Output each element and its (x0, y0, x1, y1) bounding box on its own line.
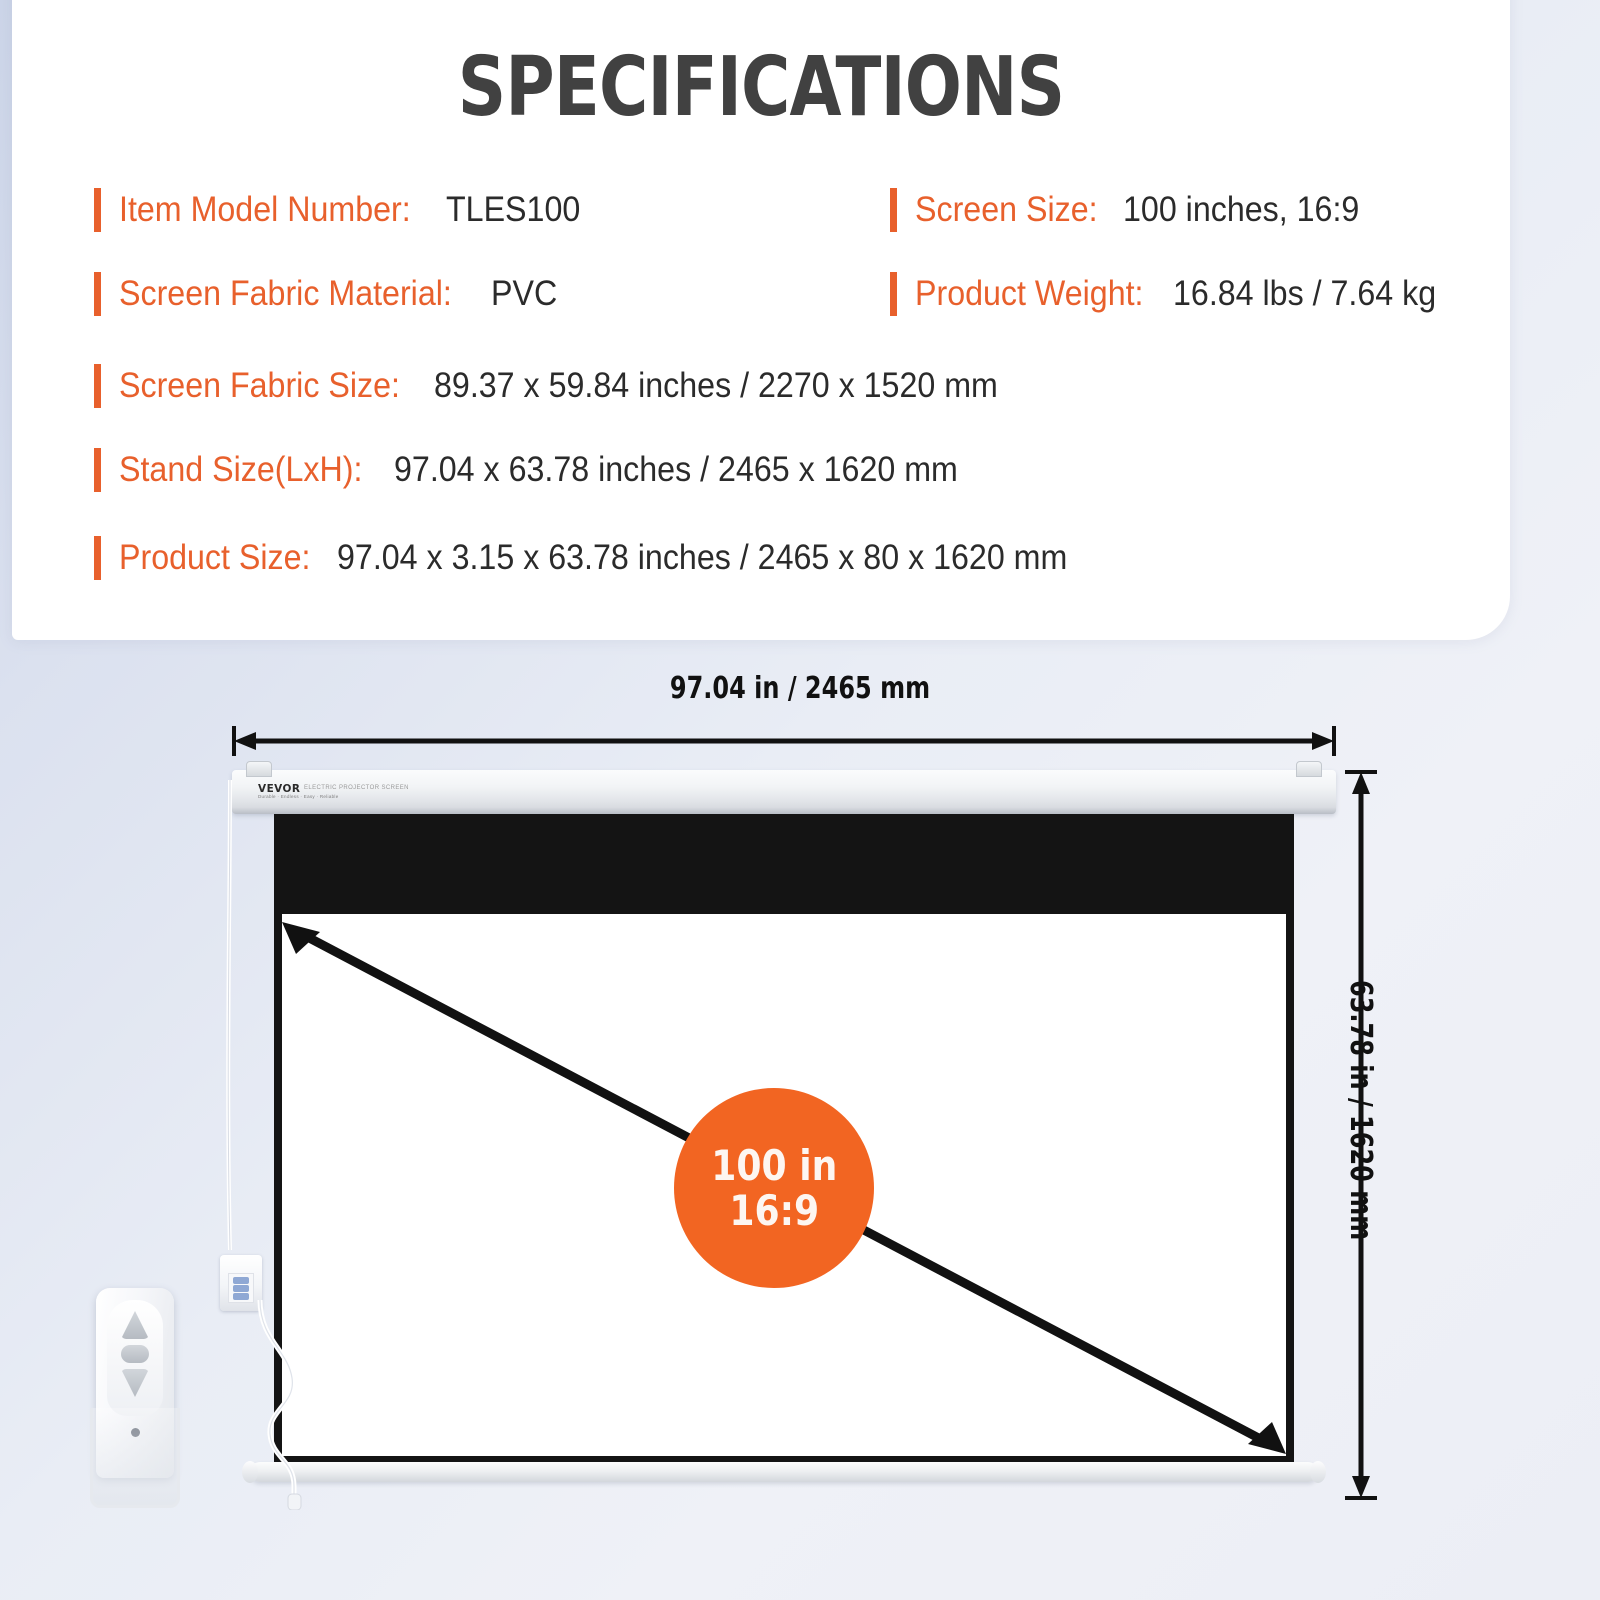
width-dimension-arrow-icon (232, 726, 1336, 756)
mounting-bracket-right-icon (1296, 761, 1322, 777)
spec-label: Product Weight: (915, 274, 1144, 314)
housing-model-text: ELECTRIC PROJECTOR SCREEN (304, 785, 409, 791)
remote-down-button-icon[interactable] (121, 1369, 149, 1397)
spec-value: 100 inches, 16:9 (1123, 190, 1359, 230)
accent-bar (94, 272, 101, 316)
spec-value: 97.04 x 63.78 inches / 2465 x 1620 mm (394, 450, 958, 490)
badge-ratio-text: 16:9 (729, 1188, 819, 1233)
remote-wall-holder (90, 1408, 180, 1508)
wall-switch-cable (248, 1300, 312, 1510)
screen-bottom-weight-bar (250, 1462, 1318, 1482)
switch-key-stop[interactable] (233, 1285, 249, 1292)
height-dimension-label: 63.78 in / 1620 mm (1343, 980, 1378, 1236)
spec-label: Screen Fabric Material: (119, 274, 452, 314)
mounting-bracket-left-icon (246, 761, 272, 777)
spec-value: TLES100 (446, 190, 580, 230)
spec-label: Screen Size: (915, 190, 1098, 230)
accent-bar (890, 272, 897, 316)
remote-up-button-icon[interactable] (121, 1311, 149, 1339)
spec-row: Screen Fabric Size: 89.37 x 59.84 inches… (94, 364, 1047, 408)
accent-bar (94, 448, 101, 492)
spec-label: Screen Fabric Size: (119, 366, 400, 406)
specifications-card: SPECIFICATIONS Item Model Number: TLES10… (12, 0, 1510, 640)
product-spec-page: SPECIFICATIONS Item Model Number: TLES10… (0, 0, 1600, 1600)
bottom-bar-end-cap-right (1310, 1461, 1326, 1483)
remote-stop-button-icon[interactable] (121, 1345, 149, 1363)
screen-size-badge: 100 in 16:9 (674, 1088, 874, 1288)
accent-bar (94, 188, 101, 232)
spec-row: Stand Size(LxH): 97.04 x 63.78 inches / … (94, 448, 1006, 492)
spec-row: Product Weight: 16.84 lbs / 7.64 kg (890, 272, 1459, 316)
badge-size-text: 100 in (711, 1143, 837, 1188)
spec-label: Stand Size(LxH): (119, 450, 362, 490)
accent-bar (94, 364, 101, 408)
spec-value: 97.04 x 3.15 x 63.78 inches / 2465 x 80 … (337, 538, 1067, 578)
switch-key-down[interactable] (233, 1293, 249, 1300)
accent-bar (890, 188, 897, 232)
remote-control[interactable] (96, 1288, 174, 1508)
width-dimension-label: 97.04 in / 2465 mm (160, 671, 1440, 706)
wall-switch-keypad[interactable] (228, 1273, 254, 1303)
spec-row: Product Size: 97.04 x 3.15 x 63.78 inche… (94, 536, 1131, 580)
remote-keypad (107, 1300, 163, 1416)
spec-value: 89.37 x 59.84 inches / 2270 x 1520 mm (434, 366, 998, 406)
page-title: SPECIFICATIONS (147, 40, 1375, 135)
spec-row: Screen Size: 100 inches, 16:9 (890, 188, 1380, 232)
spec-label: Product Size: (119, 538, 311, 578)
spec-row: Screen Fabric Material: PVC (94, 272, 563, 316)
pull-cord (200, 780, 290, 1270)
spec-label: Item Model Number: (119, 190, 411, 230)
spec-value: PVC (491, 274, 557, 314)
switch-key-up[interactable] (233, 1277, 249, 1284)
accent-bar (94, 536, 101, 580)
screen-housing-bar: VEVOR Durable · Endless · Easy · Reliabl… (232, 770, 1336, 814)
spec-row: Item Model Number: TLES100 (94, 188, 592, 232)
spec-value: 16.84 lbs / 7.64 kg (1173, 274, 1436, 314)
